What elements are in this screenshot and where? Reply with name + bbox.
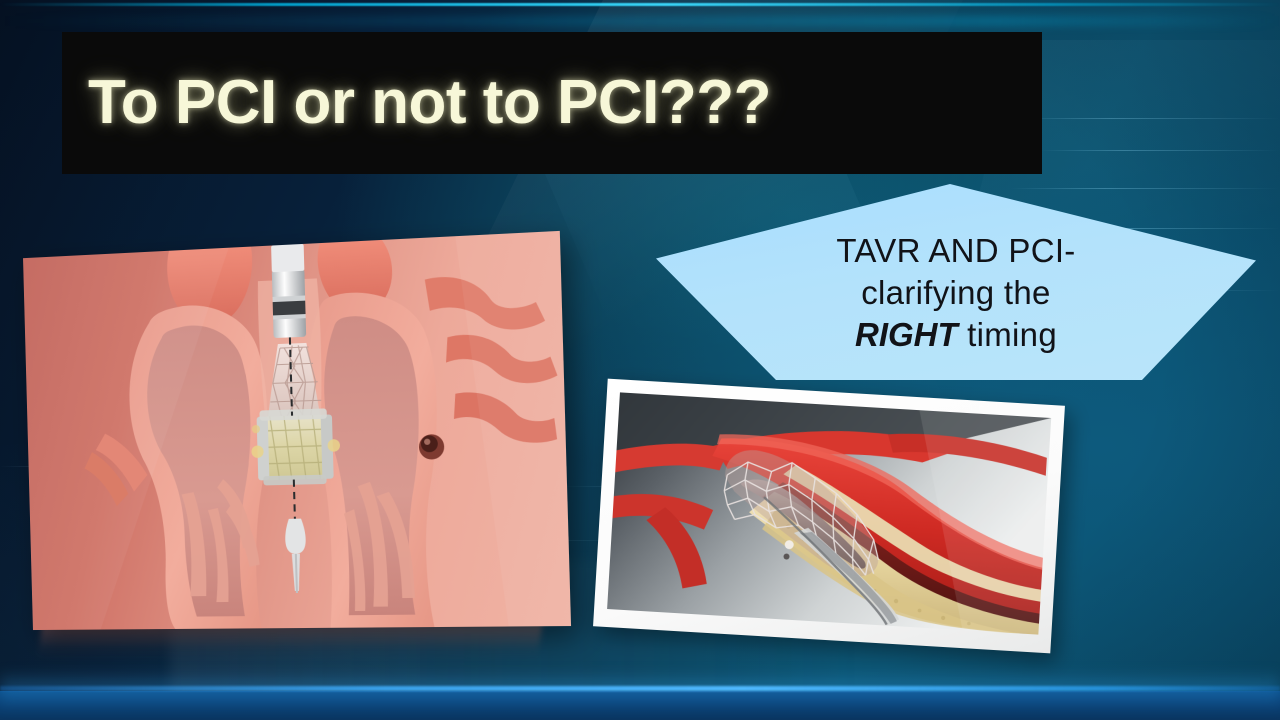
top-accent-glow bbox=[0, 16, 1280, 26]
top-accent-line bbox=[0, 3, 1280, 6]
stent-image-photo bbox=[607, 392, 1051, 634]
page-title: To PCI or not to PCI??? bbox=[88, 72, 771, 134]
stent-image-frame bbox=[593, 379, 1065, 654]
callout-line-1: TAVR AND PCI- bbox=[836, 232, 1075, 269]
bottom-accent-line bbox=[0, 686, 1280, 691]
tavr-image-panel bbox=[23, 231, 571, 630]
presentation-slide: To PCI or not to PCI??? bbox=[0, 0, 1280, 720]
stent-image-container bbox=[593, 379, 1065, 654]
tavr-image-container bbox=[28, 258, 556, 630]
callout-text: TAVR AND PCI-clarifying theRIGHT timing bbox=[836, 208, 1075, 356]
callout-emphasis: RIGHT bbox=[855, 316, 958, 353]
callout-line-3-suffix: timing bbox=[958, 316, 1057, 353]
coronary-stent-illustration bbox=[607, 392, 1051, 634]
callout-line-2: clarifying the bbox=[861, 274, 1050, 311]
tavr-heart-illustration bbox=[23, 231, 571, 630]
title-banner: To PCI or not to PCI??? bbox=[62, 32, 1042, 174]
